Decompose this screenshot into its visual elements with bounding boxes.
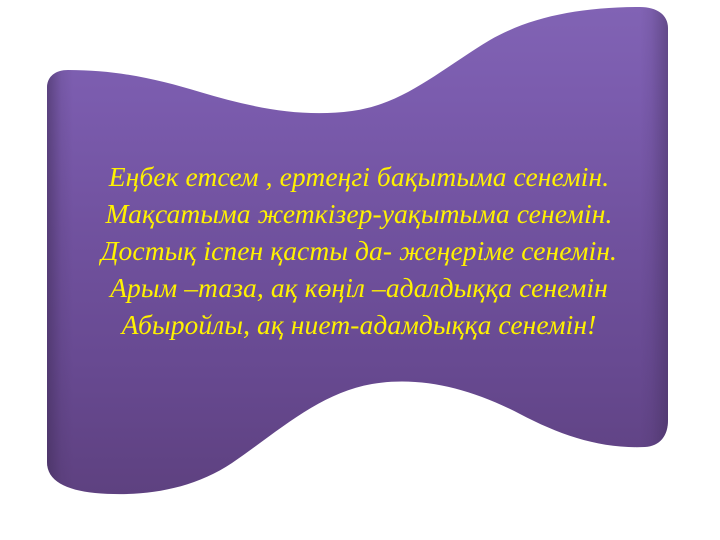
poem-line-5: Абыройлы, ақ ниет-адамдыққа сенемін!	[48, 306, 670, 343]
slide-canvas: Еңбек етсем , ертеңгі бақытыма сенемін. …	[0, 0, 720, 540]
poem-line-2: Мақсатыма жеткізер-уақытыма сенемін.	[48, 195, 670, 232]
poem-text-block: Еңбек етсем , ертеңгі бақытыма сенемін. …	[48, 158, 670, 343]
poem-line-4: Арым –таза, ақ көңіл –адалдыққа сенемін	[48, 269, 670, 306]
poem-line-1: Еңбек етсем , ертеңгі бақытыма сенемін.	[48, 158, 670, 195]
poem-line-3: Достық іспен қасты да- жеңеріме сенемін.	[48, 232, 670, 269]
